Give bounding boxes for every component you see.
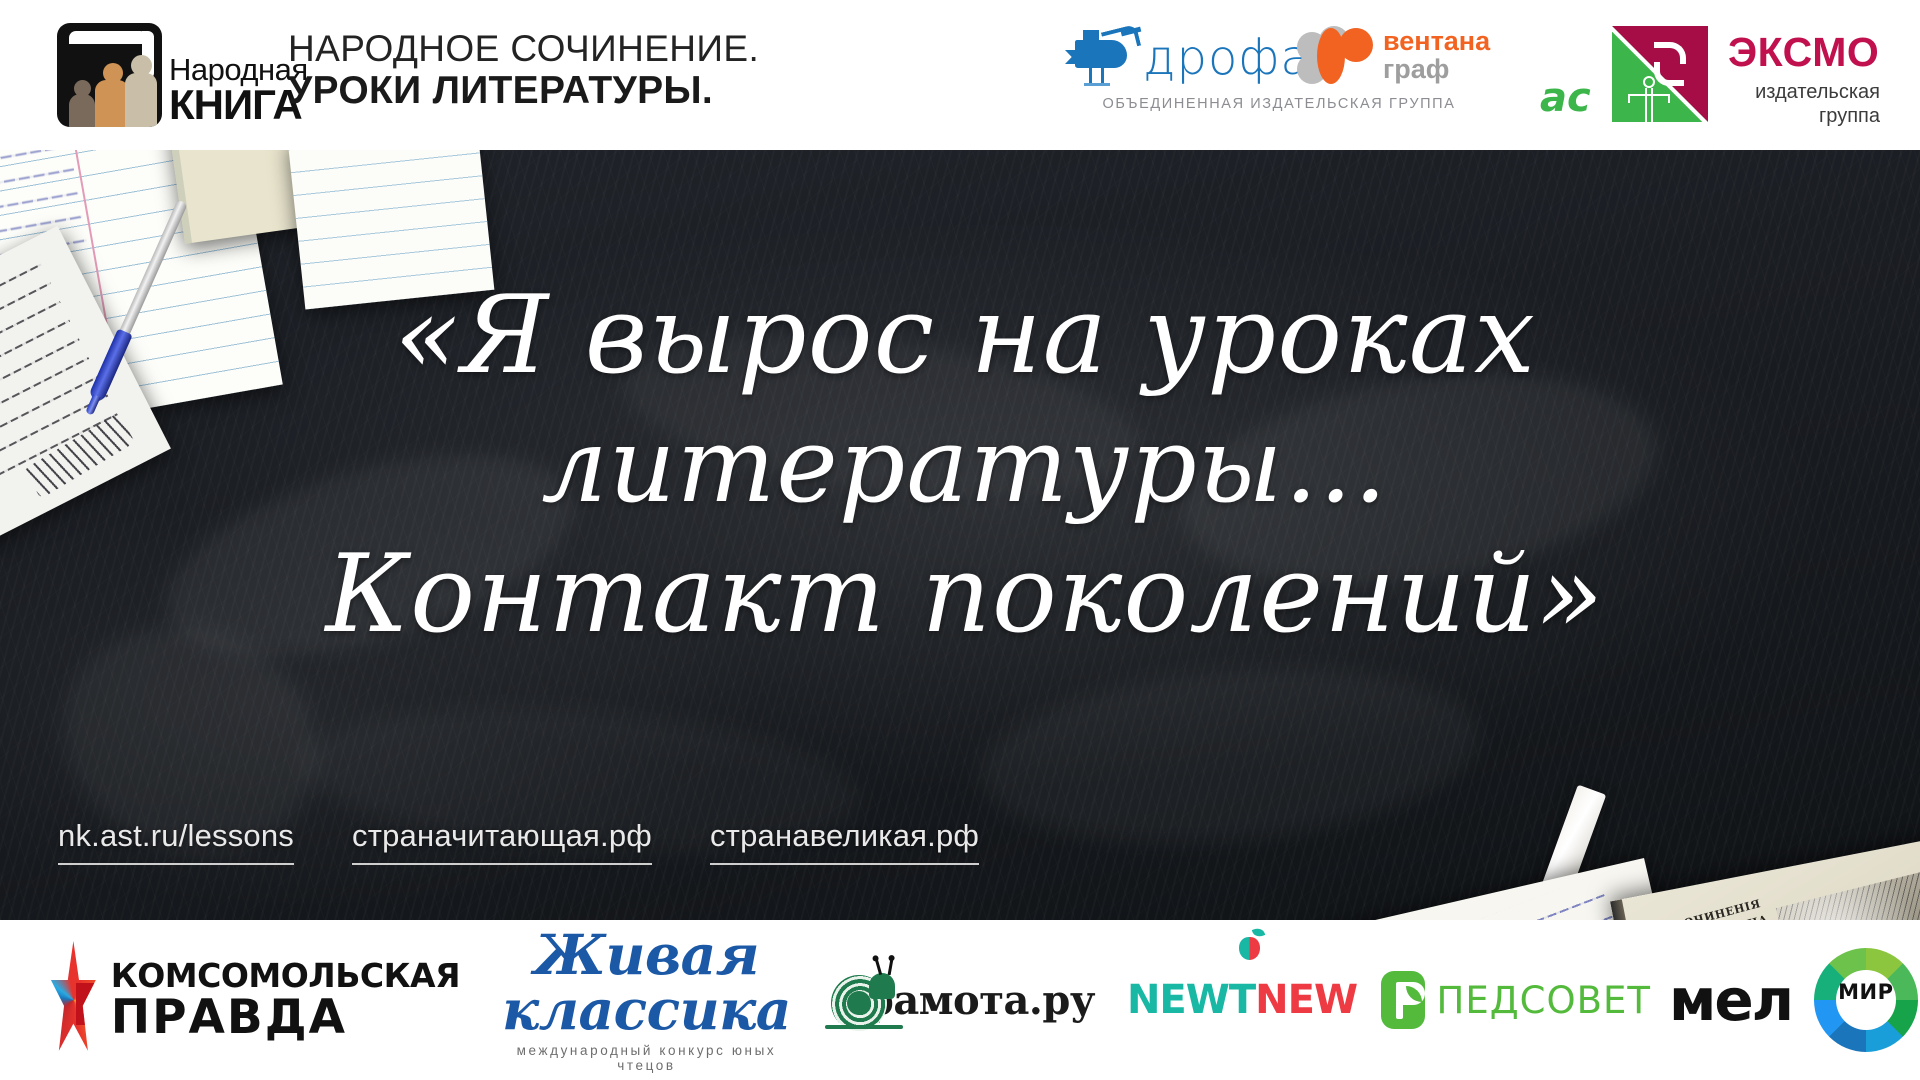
- poster-header: Народная книга НАРОДНОЕ СОЧИНЕНИЕ. УРОКИ…: [0, 0, 1920, 150]
- link-nk-ast-ru[interactable]: nk.ast.ru/lessons: [58, 818, 294, 865]
- ventana-wordmark-line1: вентана: [1383, 28, 1490, 55]
- partner-gramota-ru[interactable]: грамота.ру: [825, 940, 1095, 1060]
- partner-newtonew[interactable]: NEWTNEW: [1127, 940, 1357, 1060]
- ast-diagonal-square-icon: [1612, 26, 1708, 122]
- brand-line2: книга: [169, 84, 302, 126]
- ast-wordmark: ас: [1540, 78, 1591, 118]
- publisher-logo-row: дрофа вентана граф: [1069, 22, 1489, 90]
- title-line2: УРОКИ ЛИТЕРАТУРЫ.: [288, 69, 848, 113]
- pedsovet-wordmark: ПЕДСОВЕТ: [1437, 979, 1651, 1022]
- mir-wordmark: МИР: [1814, 980, 1918, 1004]
- eksmo-subtitle: издательская группа: [1728, 80, 1880, 129]
- kp-wordmark-line2: ПРАВДА: [111, 994, 460, 1041]
- website-links: nk.ast.ru/lessons страначитающая.рф стра…: [58, 818, 979, 865]
- newtonew-part1: NEWT: [1127, 977, 1255, 1023]
- partner-mel[interactable]: мел: [1669, 940, 1808, 1060]
- publisher-group-logos[interactable]: дрофа вентана граф ОБЪЕДИНЕННАЯ ИЗДАТЕЛЬ…: [1069, 22, 1489, 90]
- ventana-wordmark-line2: граф: [1383, 56, 1449, 83]
- klassika-wordmark: Живая классика: [502, 927, 791, 1037]
- title-line1: НАРОДНОЕ СОЧИНЕНИЕ.: [288, 28, 848, 69]
- drofa-wordmark: дрофа: [1143, 34, 1311, 82]
- promo-poster: Народная книга НАРОДНОЕ СОЧИНЕНИЕ. УРОКИ…: [0, 0, 1920, 1080]
- kp-star-icon: КП KP.RU: [50, 941, 97, 1059]
- partner-mir[interactable]: МИР: [1814, 940, 1920, 1060]
- ventana-flower-icon: [1297, 26, 1375, 86]
- notebook-paper-collage: [0, 150, 430, 570]
- eksmo-wordmark: ЭКСМО: [1728, 32, 1879, 73]
- kp-wordmark: КОМСОМОЛЬСКАЯ ПРАВДА: [111, 959, 460, 1041]
- partner-zhivaya-klassika[interactable]: Живая классика международный конкурс юны…: [502, 940, 791, 1060]
- book-spine-shape: [69, 31, 147, 44]
- newtonew-part2: NEW: [1255, 977, 1357, 1023]
- bustard-bird-icon: [1069, 28, 1141, 86]
- chalk-smudge: [1167, 344, 1672, 617]
- link-stranavelikaya[interactable]: странавеликая.рф: [710, 818, 979, 865]
- partner-logo-bar: КП KP.RU КОМСОМОЛЬСКАЯ ПРАВДА Живая клас…: [0, 920, 1920, 1080]
- klassika-subtitle: международный конкурс юных чтецов: [502, 1043, 791, 1073]
- link-stranachitayushchaya[interactable]: страначитающая.рф: [352, 818, 652, 865]
- kp-wordmark-line1: КОМСОМОЛЬСКАЯ: [111, 959, 460, 992]
- publisher-group-subtitle: ОБЪЕДИНЕННАЯ ИЗДАТЕЛЬСКАЯ ГРУППА: [1069, 96, 1489, 112]
- book-people-logo-icon: [57, 23, 162, 127]
- partner-pedsovet[interactable]: ПЕДСОВЕТ: [1381, 940, 1651, 1060]
- snail-icon: [825, 969, 838, 1031]
- drofa-logo[interactable]: дрофа: [1069, 26, 1284, 88]
- mel-wordmark: мел: [1669, 971, 1792, 1029]
- partner-komsomolskaya-pravda[interactable]: КП KP.RU КОМСОМОЛЬСКАЯ ПРАВДА: [50, 940, 460, 1060]
- chalk-smudge: [613, 309, 1147, 521]
- person-figure-icon: [69, 80, 95, 127]
- page-title: НАРОДНОЕ СОЧИНЕНИЕ. УРОКИ ЛИТЕРАТУРЫ.: [288, 28, 848, 113]
- eksmo-spiral-icon: [1648, 42, 1694, 90]
- person-figure-icon: [125, 55, 157, 127]
- ventana-graf-logo[interactable]: вентана граф: [1297, 22, 1497, 90]
- pedsovet-leaf-icon: [1381, 971, 1425, 1029]
- apple-icon: [1239, 937, 1260, 960]
- person-figure-icon: [95, 63, 129, 127]
- ast-eksmo-logo[interactable]: ас ЭКСМО издательская группа: [1540, 16, 1880, 132]
